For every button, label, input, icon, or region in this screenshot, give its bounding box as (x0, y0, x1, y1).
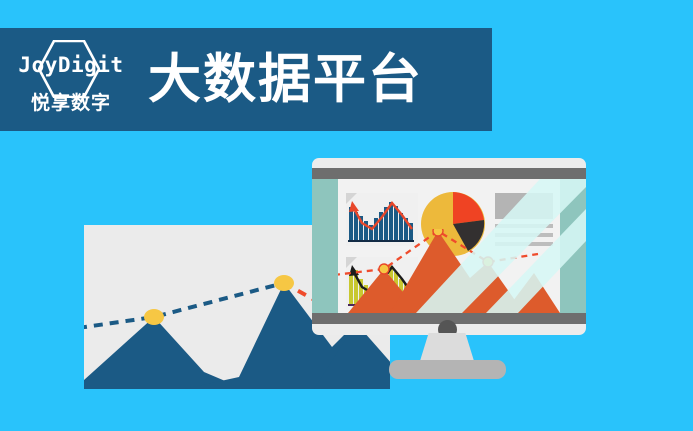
screen-side-panel-right (560, 179, 586, 313)
data-marker-2 (274, 275, 294, 291)
widget-mountain-area-chart[interactable] (338, 229, 560, 313)
data-marker-1 (379, 264, 389, 274)
poster-canvas: JoyDigit 悦享数字 大数据平台 (0, 0, 693, 431)
screen-side-panel-left (312, 179, 338, 313)
page-title: 大数据平台 (148, 53, 423, 106)
header-banner: JoyDigit 悦享数字 大数据平台 (0, 28, 492, 131)
placeholder-block (495, 193, 553, 219)
trend-line-blue (84, 283, 284, 328)
pie-slice-red (453, 192, 484, 224)
data-marker-2 (433, 229, 443, 236)
monitor-stand-neck (420, 333, 474, 361)
logo-subtitle: 悦享数字 (12, 94, 130, 113)
page-fold-corner (346, 193, 357, 204)
monitor-stand-base (389, 360, 506, 379)
monitor-bezel-top (312, 168, 586, 179)
data-marker-3 (483, 257, 493, 267)
placeholder-line (495, 224, 553, 228)
data-marker-1 (144, 309, 164, 325)
monitor (312, 158, 586, 335)
mountain-small-left (84, 317, 244, 389)
monitor-screen (312, 179, 586, 313)
brand-logo: JoyDigit 悦享数字 (12, 38, 130, 122)
dashboard-content (338, 179, 560, 313)
logo-wordmark: JoyDigit (12, 55, 130, 76)
